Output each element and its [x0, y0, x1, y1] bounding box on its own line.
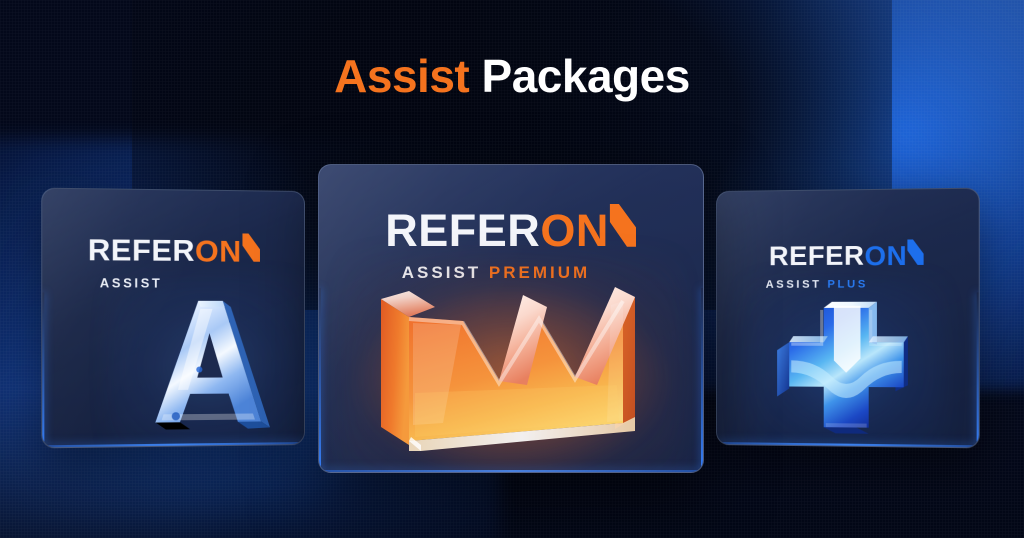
brand-n-slash-icon: [609, 204, 637, 247]
card-edge-glow: [977, 292, 979, 447]
package-card-assist[interactable]: REFERON ASSIST: [41, 188, 305, 449]
tier-label-suffix: PLUS: [827, 278, 868, 290]
card-edge-glow: [42, 292, 44, 447]
page-title-accent: Assist: [334, 50, 469, 102]
brand-wordmark-on: ON: [864, 240, 924, 271]
logo-block-assist: REFERON ASSIST: [42, 231, 304, 291]
glossy-plus-icon: [771, 302, 914, 437]
brand-n-slash-icon: [242, 233, 261, 262]
brand-n-slash-icon: [907, 239, 924, 265]
package-card-assist-plus[interactable]: REFERON ASSIST PLUS: [716, 188, 980, 449]
promo-banner: Assist Packages REFERON ASSIST: [0, 0, 1024, 538]
page-title: Assist Packages: [0, 53, 1024, 99]
card-edge-glow-left: [319, 288, 321, 472]
card-edge-glow-bottom: [717, 442, 979, 447]
glossy-letter-a-icon: [141, 297, 273, 431]
brand-wordmark-refer: REFER: [385, 205, 540, 256]
brand-wordmark: REFERON: [717, 238, 979, 271]
brand-wordmark-refer: REFER: [769, 240, 865, 271]
brand-wordmark: REFERON: [42, 231, 304, 268]
package-card-assist-premium[interactable]: REFERON ASSIST PREMIUM: [318, 164, 704, 473]
logo-block-assist-plus: REFERON ASSIST PLUS: [717, 238, 979, 291]
brand-wordmark: REFERON: [319, 203, 703, 253]
tier-label: ASSIST PLUS: [716, 278, 979, 291]
brand-wordmark-on: ON: [540, 205, 636, 256]
card-edge-glow-bottom: [319, 470, 703, 472]
logo-block-assist-premium: REFERON ASSIST PREMIUM: [319, 203, 703, 283]
page-title-plain: Packages: [469, 50, 690, 102]
tier-label-prefix: ASSIST: [766, 278, 822, 290]
card-edge-glow-right: [701, 288, 703, 472]
glossy-crown-icon: [379, 273, 645, 457]
tier-label: ASSIST: [41, 275, 304, 290]
tier-label-prefix: ASSIST: [100, 276, 163, 290]
brand-wordmark-refer: REFER: [88, 234, 195, 268]
card-edge-glow-bottom: [42, 442, 304, 447]
brand-wordmark-on: ON: [195, 235, 260, 269]
